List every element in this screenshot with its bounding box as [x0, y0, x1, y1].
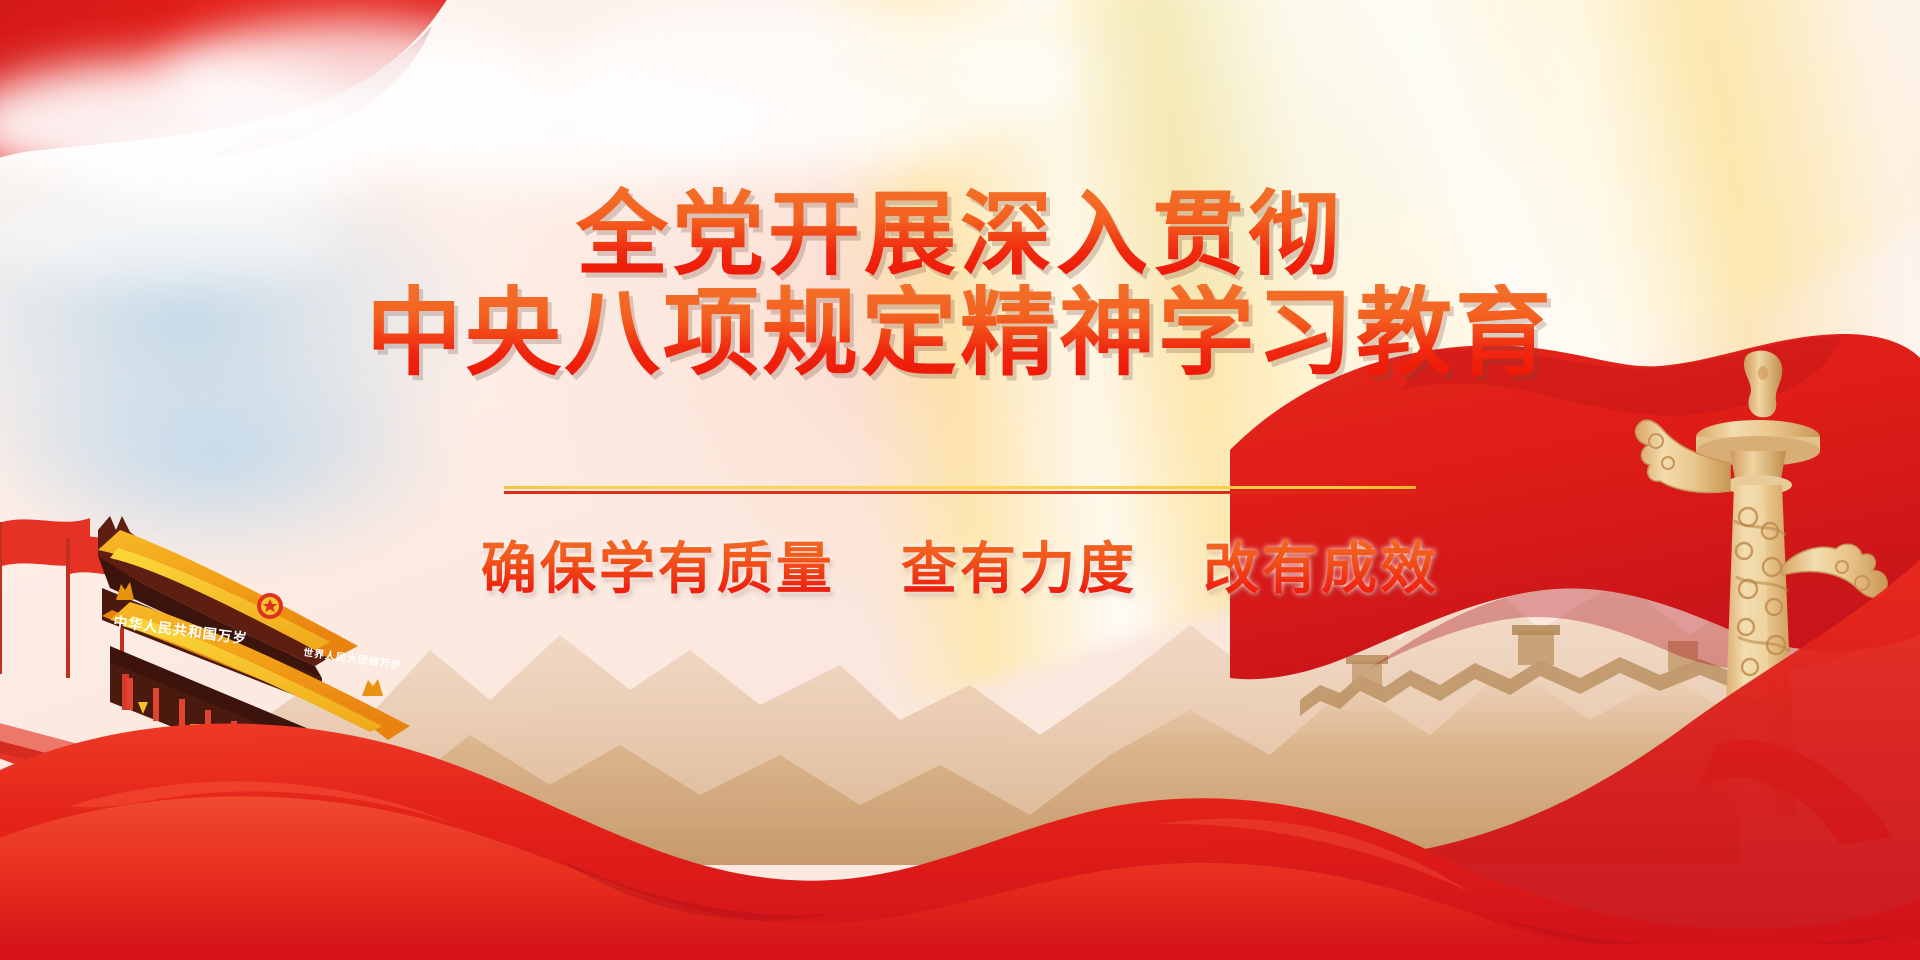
slogan-part-2: 查有力度 [901, 524, 1137, 605]
slogan-part-3: 改有成效 [1203, 524, 1439, 605]
poster-title: 全党开展深入贯彻 中央八项规定精神学习教育 [0, 186, 1920, 382]
poster-canvas: 中华人民共和国万岁 世界人民大团结万岁 [0, 0, 1920, 960]
slogan-part-1: 确保学有质量 [481, 524, 835, 605]
text-content: 全党开展深入贯彻 中央八项规定精神学习教育 确保学有质量 查有力度 改有成效 [0, 0, 1920, 960]
title-line-2: 中央八项规定精神学习教育 [366, 284, 1554, 382]
divider-red-line [504, 491, 1416, 494]
title-line-1: 全党开展深入贯彻 [576, 186, 1344, 284]
title-divider [504, 486, 1416, 494]
divider-gold-line [504, 486, 1416, 489]
poster-slogan: 确保学有质量 查有力度 改有成效 [0, 524, 1920, 605]
